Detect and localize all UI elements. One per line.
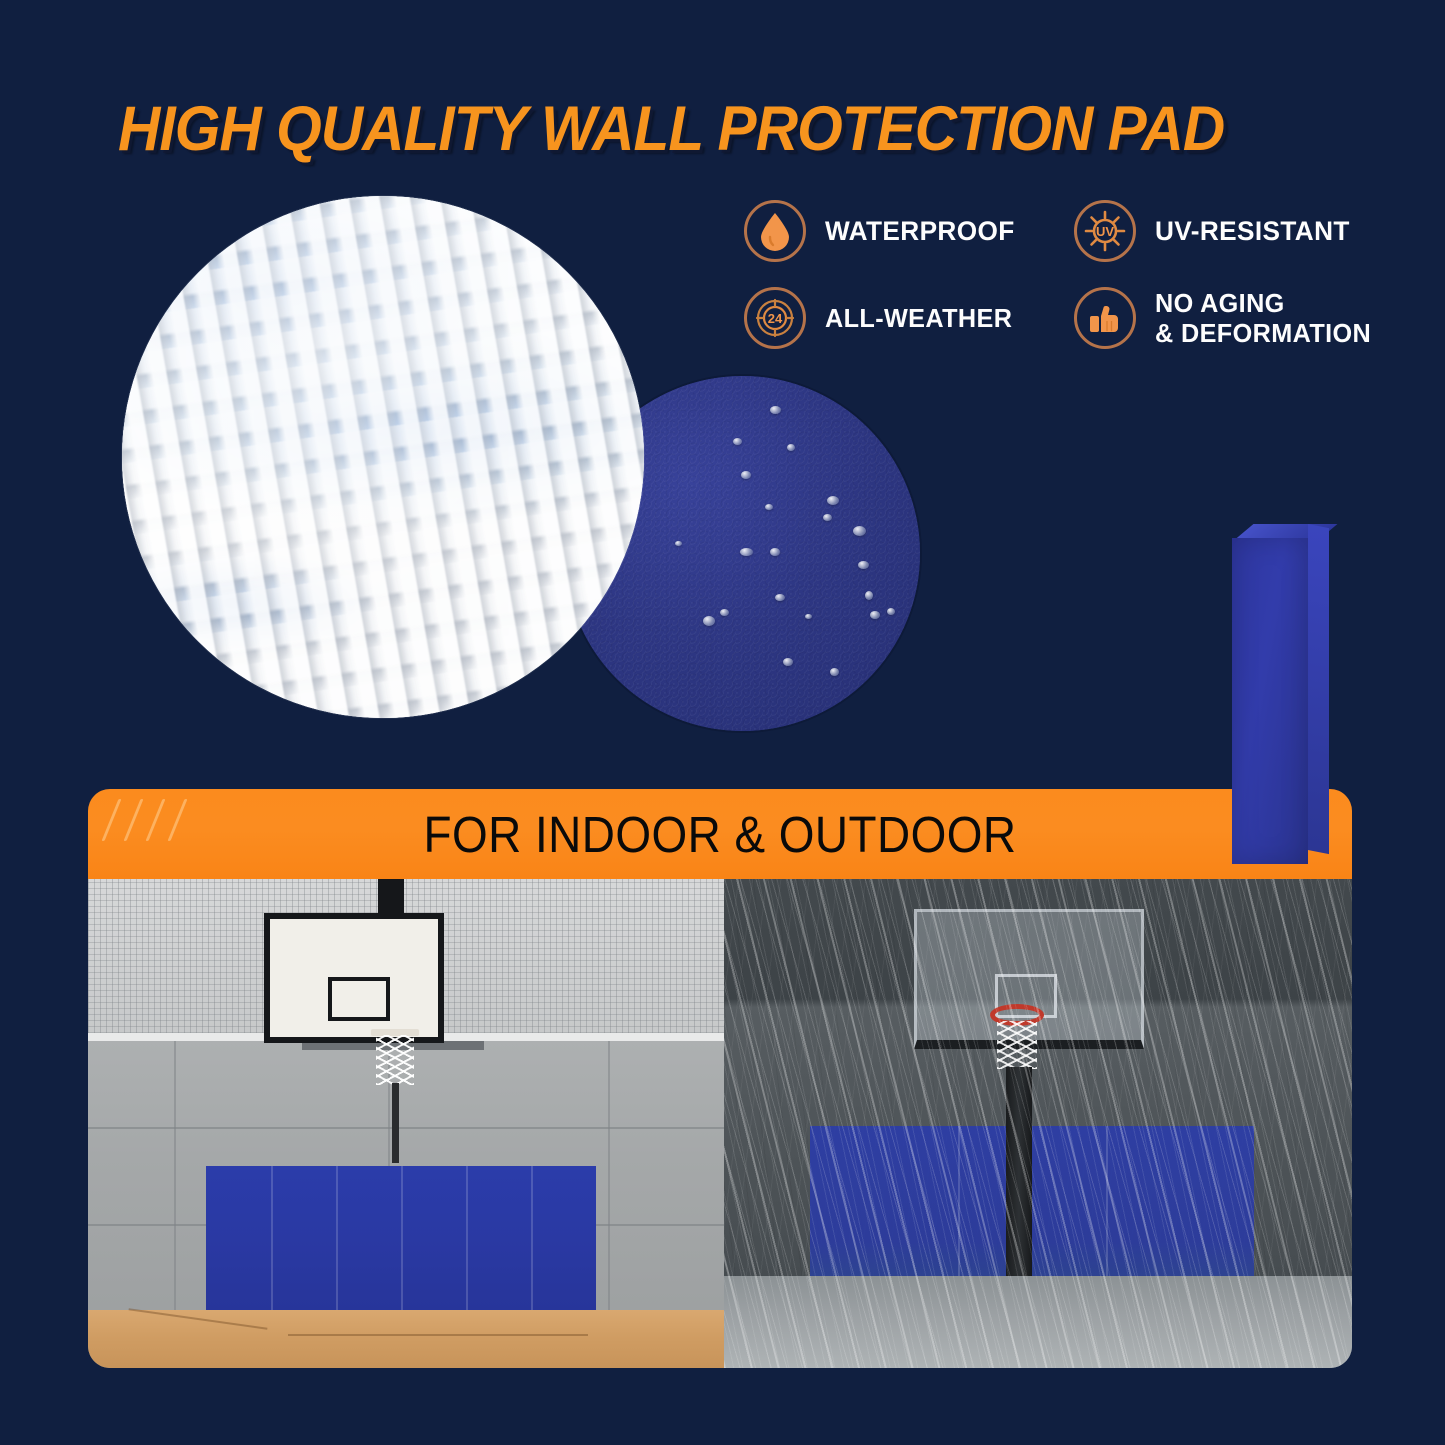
water-bead	[720, 609, 729, 616]
clock-24-label: 24	[768, 311, 783, 326]
feature-row-1: WATERPROOF	[744, 200, 1404, 262]
poster-canvas: HIGH QUALITY WALL PROTECTION PAD	[0, 0, 1445, 1445]
wall-seam	[174, 1041, 176, 1311]
gym-wood-floor	[88, 1310, 724, 1368]
feature-label: WATERPROOF	[825, 216, 1015, 246]
foam-texture-closeup	[122, 196, 644, 718]
basketball-net	[997, 1021, 1037, 1069]
water-bead	[783, 658, 793, 666]
svg-text:UV: UV	[1096, 224, 1114, 239]
uv-sun-icon: UV	[1074, 200, 1136, 262]
feature-all-weather: 24 ALL-WEATHER	[744, 287, 1074, 349]
wall-protection-pad-product	[1232, 524, 1332, 864]
water-drop-icon	[744, 200, 806, 262]
feature-row-2: 24 ALL-WEATHER N	[744, 287, 1404, 349]
wall-seam	[608, 1041, 610, 1311]
feature-waterproof: WATERPROOF	[744, 200, 1074, 262]
banner-text: FOR INDOOR & OUTDOOR	[151, 807, 1289, 863]
water-bead	[870, 611, 880, 619]
feature-label: NO AGING & DEFORMATION	[1155, 288, 1371, 348]
feature-label-line1: NO AGING	[1155, 288, 1371, 318]
wall-seam	[88, 1127, 724, 1129]
wall-pad-indoor	[206, 1166, 596, 1311]
water-bead	[830, 668, 839, 676]
pad-side-face	[1308, 524, 1329, 854]
water-bead	[733, 438, 742, 445]
water-bead	[741, 471, 751, 479]
water-bead	[827, 496, 839, 505]
feature-uv-resistant: UV UV-RESISTANT	[1074, 200, 1404, 262]
backboard-mount-arm	[378, 879, 404, 915]
water-bead	[765, 504, 773, 510]
water-bead	[787, 444, 795, 451]
water-bead	[770, 406, 781, 414]
feature-list: WATERPROOF	[744, 200, 1404, 349]
water-bead	[675, 541, 682, 546]
feature-label: ALL-WEATHER	[825, 303, 1012, 333]
basketball-net	[376, 1035, 414, 1085]
thumbs-up-icon	[1074, 287, 1136, 349]
hoop-post	[392, 1083, 399, 1163]
page-title: HIGH QUALITY WALL PROTECTION PAD	[118, 96, 1224, 162]
feature-no-aging: NO AGING & DEFORMATION	[1074, 287, 1404, 349]
water-bead	[865, 591, 873, 600]
water-bead	[775, 594, 785, 601]
feature-label: UV-RESISTANT	[1155, 216, 1350, 246]
backboard-square	[328, 977, 390, 1021]
water-bead	[858, 561, 869, 569]
water-bead	[703, 616, 715, 626]
water-bead	[770, 548, 780, 556]
outdoor-ground	[724, 1276, 1352, 1368]
application-photos	[88, 879, 1352, 1368]
clock-24-icon: 24	[744, 287, 806, 349]
water-bead	[823, 514, 832, 521]
indoor-outdoor-banner: FOR INDOOR & OUTDOOR	[88, 789, 1352, 879]
water-bead	[887, 608, 895, 615]
indoor-gym-photo	[88, 879, 724, 1368]
outdoor-rain-photo	[724, 879, 1352, 1368]
foam-highlight	[122, 196, 644, 718]
pad-front-face	[1232, 538, 1308, 864]
water-bead	[853, 526, 866, 536]
feature-label-line2: & DEFORMATION	[1155, 318, 1371, 348]
basketball-backboard	[264, 913, 444, 1043]
water-bead	[740, 548, 753, 556]
water-bead	[805, 614, 812, 619]
